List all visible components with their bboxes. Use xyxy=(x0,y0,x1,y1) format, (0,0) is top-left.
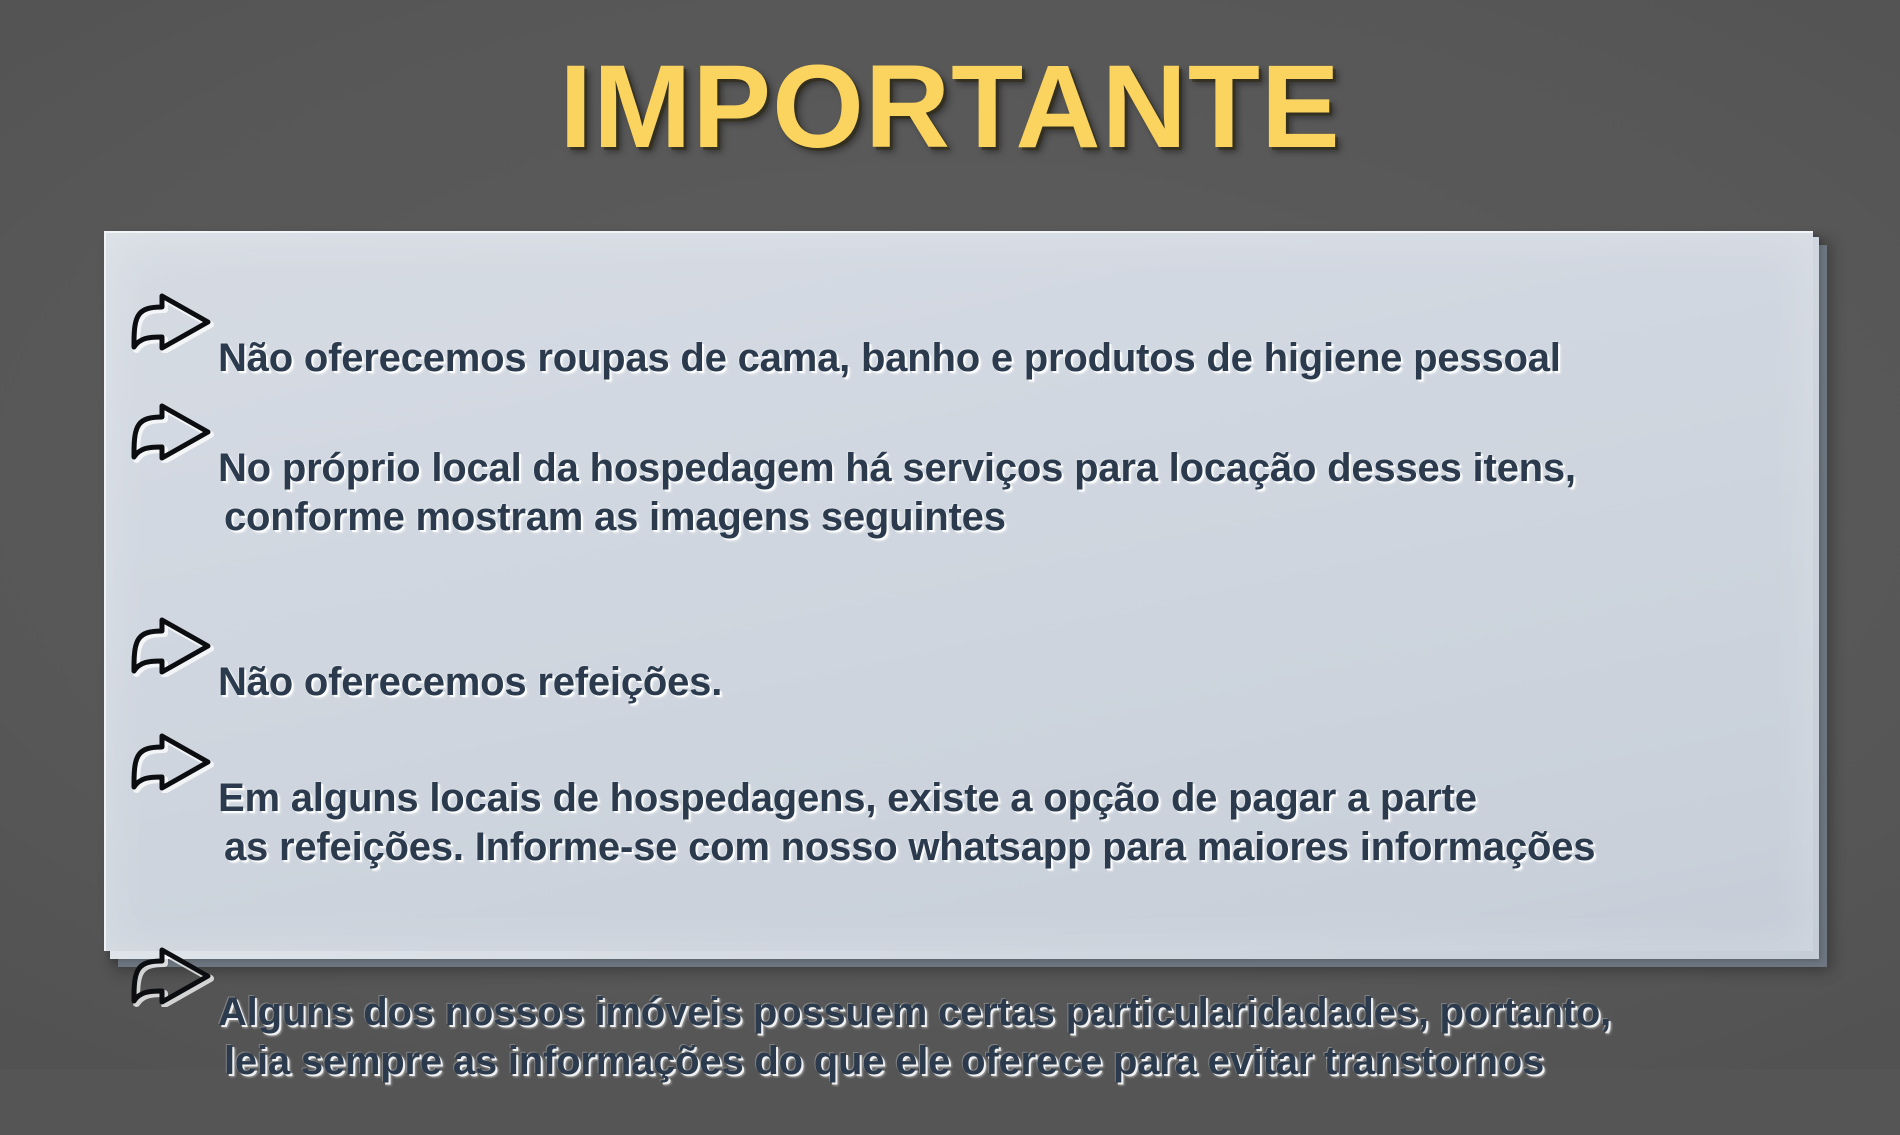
list-item: Não oferecemos refeições. xyxy=(128,609,1793,707)
list-item-text: Em alguns locais de hospedagens, existe … xyxy=(218,725,1793,921)
arrow-right-icon xyxy=(128,401,214,463)
list-item: No próprio local da hospedagem há serviç… xyxy=(128,395,1793,591)
list-item: Alguns dos nossos imóveis possuem certas… xyxy=(128,939,1793,1135)
list-item-line1: Alguns dos nossos imóveis possuem certas… xyxy=(218,990,1611,1034)
title-container: IMPORTANTE xyxy=(0,48,1900,166)
list-item: Não oferecemos roupas de cama, banho e p… xyxy=(128,285,1793,383)
list-item-text: Não oferecemos roupas de cama, banho e p… xyxy=(218,285,1793,383)
list-item-text: Alguns dos nossos imóveis possuem certas… xyxy=(218,939,1793,1135)
content-panel-stack: Não oferecemos roupas de cama, banho e p… xyxy=(104,231,1827,967)
arrow-right-icon xyxy=(128,945,214,1007)
list-item-line2: as refeições. Informe-se com nosso whats… xyxy=(218,823,1793,872)
slide-canvas: IMPORTANTE Não oferecemos roupas de cama… xyxy=(0,0,1900,1069)
arrow-right-icon xyxy=(128,731,214,793)
list-item: Em alguns locais de hospedagens, existe … xyxy=(128,725,1793,921)
content-panel: Não oferecemos roupas de cama, banho e p… xyxy=(104,231,1813,951)
list-item-line2: conforme mostram as imagens seguintes xyxy=(218,493,1793,542)
list-item-line1: Em alguns locais de hospedagens, existe … xyxy=(218,776,1477,820)
bullet-list: Não oferecemos roupas de cama, banho e p… xyxy=(128,285,1793,925)
page-title: IMPORTANTE xyxy=(559,48,1340,166)
list-item-line2: leia sempre as informações do que ele of… xyxy=(218,1037,1793,1086)
list-item-text: Não oferecemos refeições. xyxy=(218,609,1793,707)
list-item-text: No próprio local da hospedagem há serviç… xyxy=(218,395,1793,591)
arrow-right-icon xyxy=(128,291,214,353)
list-item-line1: No próprio local da hospedagem há serviç… xyxy=(218,446,1576,490)
list-item-line1: Não oferecemos refeições. xyxy=(218,660,722,704)
arrow-right-icon xyxy=(128,615,214,677)
list-item-line1: Não oferecemos roupas de cama, banho e p… xyxy=(218,336,1561,380)
